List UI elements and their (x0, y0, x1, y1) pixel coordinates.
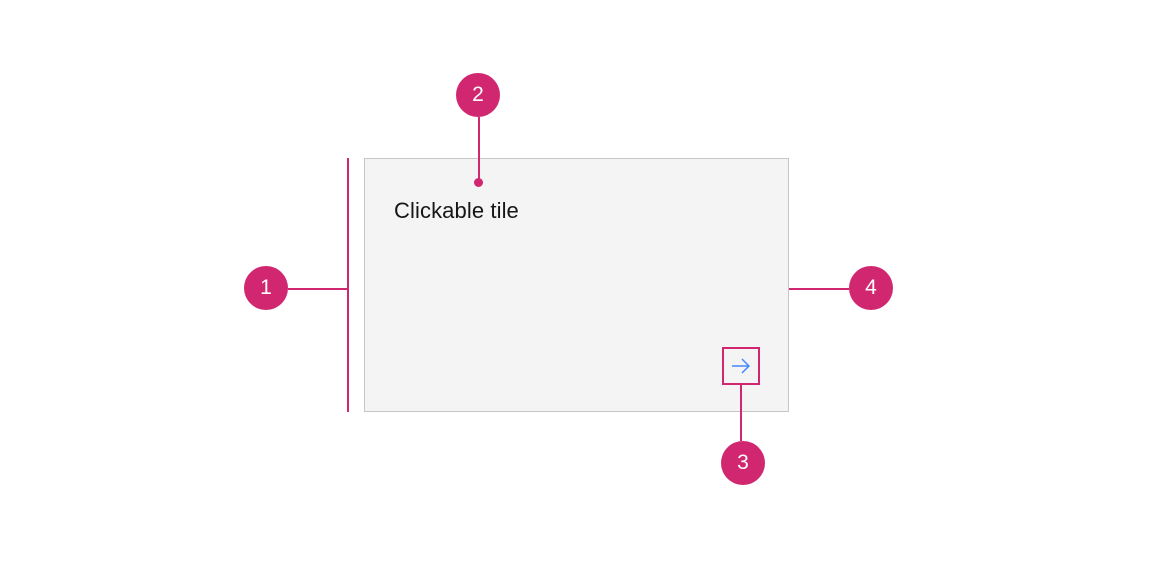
annotation-3-leader-line (740, 385, 742, 441)
annotation-badge-1[interactable]: 1 (244, 266, 288, 310)
annotation-2-leader-line (478, 117, 480, 183)
tile-label: Clickable tile (394, 197, 519, 225)
arrow-right-icon[interactable] (729, 354, 753, 378)
annotation-badge-3[interactable]: 3 (721, 441, 765, 485)
annotation-4-leader-line (789, 288, 849, 290)
annotation-1-measure-rule (347, 158, 349, 412)
arrow-icon-highlight-box (722, 347, 760, 385)
annotated-tile-diagram: Clickable tile 1 2 3 4 (0, 0, 1152, 576)
annotation-badge-2[interactable]: 2 (456, 73, 500, 117)
annotation-badge-4[interactable]: 4 (849, 266, 893, 310)
annotation-1-leader-line (288, 288, 348, 290)
annotation-2-leader-dot (474, 178, 483, 187)
